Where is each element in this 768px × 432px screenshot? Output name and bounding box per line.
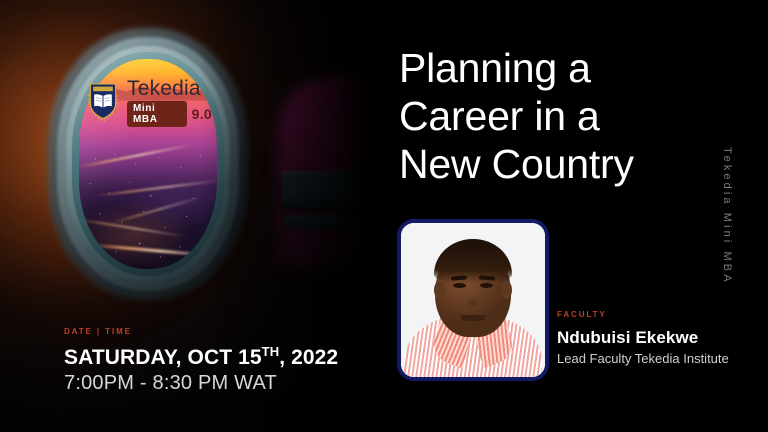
event-time: 7:00PM - 8:30 PM WAT xyxy=(64,371,364,395)
portrait-eye-left xyxy=(453,283,466,288)
event-poster: Tekedia Mini MBA 9.0 Planning a Career i… xyxy=(0,0,768,432)
datetime-block: DATE | TIME SATURDAY, OCT 15TH, 2022 7:0… xyxy=(64,327,364,395)
faculty-portrait xyxy=(397,219,549,381)
title-line-3: New Country xyxy=(399,140,709,188)
title-line-2: Career in a xyxy=(399,92,709,140)
cabin-panel-secondary xyxy=(284,215,384,229)
portrait-nose xyxy=(465,293,481,307)
portrait-ear-right xyxy=(501,281,512,299)
tekedia-wordmark: Tekedia Mini MBA 9.0 xyxy=(127,78,212,127)
logo-wordmark-text: Tekedia xyxy=(127,78,212,99)
event-date-ordinal: TH xyxy=(262,344,280,359)
tekedia-crest-icon xyxy=(86,82,120,122)
page-title: Planning a Career in a New Country xyxy=(399,44,709,188)
portrait-ear-left xyxy=(434,281,445,299)
portrait-eye-right xyxy=(480,283,493,288)
event-date: SATURDAY, OCT 15TH, 2022 xyxy=(64,345,364,370)
logo-version: 9.0 xyxy=(192,107,212,121)
event-date-suffix: , 2022 xyxy=(279,346,338,369)
title-line-1: Planning a xyxy=(399,44,709,92)
tekedia-logo: Tekedia Mini MBA 9.0 xyxy=(86,78,212,126)
vertical-brand-text: Tekedia Mini MBA xyxy=(721,147,733,285)
portrait-mouth xyxy=(460,315,486,321)
cabin-panel xyxy=(282,172,384,208)
event-date-prefix: SATURDAY, OCT 15 xyxy=(64,346,262,369)
logo-badge-mini-mba: Mini MBA xyxy=(127,101,187,127)
vertical-brand-label: Tekedia Mini MBA xyxy=(712,0,742,432)
datetime-eyebrow-label: DATE | TIME xyxy=(64,327,364,337)
